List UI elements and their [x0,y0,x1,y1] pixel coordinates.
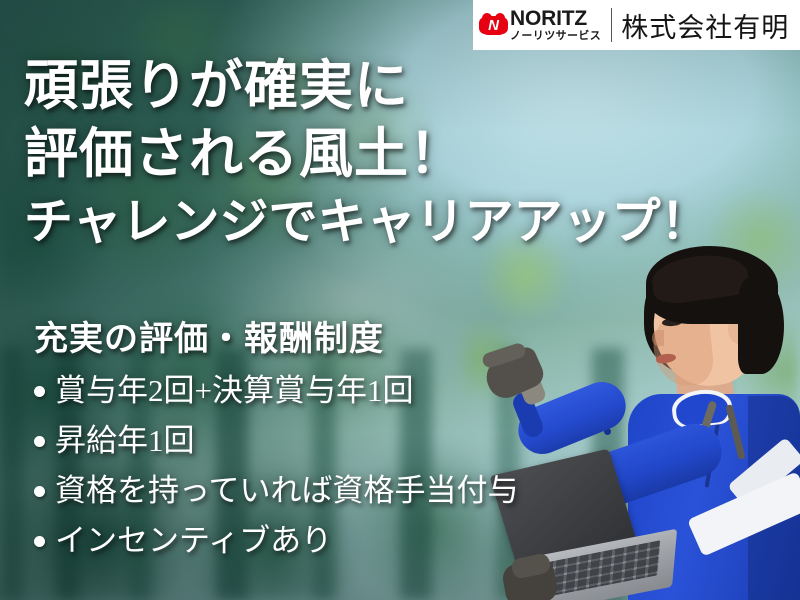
bullet-dot-icon [34,536,45,547]
noritz-mark-icon: N [481,16,506,35]
noritz-logo: N NORITZ ノーリツサービス [481,8,601,42]
benefit-text: 資格を持っていれば資格手当付与 [55,466,518,516]
headline-line-1: 頑張りが確実に [24,52,710,120]
noritz-wordmark: NORITZ [510,8,601,29]
benefit-text: 昇給年1回 [55,416,195,466]
benefits-block: 充実の評価・報酬制度 賞与年2回+決算賞与年1回 昇給年1回 資格を持っていれば… [34,318,518,566]
company-name: 株式会社有明 [621,6,789,45]
benefit-text: インセンティブあり [55,516,332,566]
recruitment-banner: N NORITZ ノーリツサービス 株式会社有明 頑張りが確実に 評価される風土… [0,0,800,600]
bullet-dot-icon [34,436,45,447]
nose [652,330,664,346]
hair-side [738,278,784,374]
bullet-dot-icon [34,386,45,397]
list-item: 賞与年2回+決算賞与年1回 [34,366,518,416]
headline: 頑張りが確実に 評価される風土！ チャレンジでキャリアアップ！ [24,52,710,256]
list-item: 資格を持っていれば資格手当付与 [34,466,518,516]
noritz-logo-text: NORITZ ノーリツサービス [510,8,601,42]
list-item: インセンティブあり [34,516,518,566]
noritz-subtext: ノーリツサービス [510,31,601,42]
list-item: 昇給年1回 [34,416,518,466]
headline-line-2: 評価される風土！ [24,120,710,188]
benefits-list: 賞与年2回+決算賞与年1回 昇給年1回 資格を持っていれば資格手当付与 インセン… [34,366,518,566]
bullet-dot-icon [34,486,45,497]
benefit-text: 賞与年2回+決算賞与年1回 [55,366,413,416]
noritz-mark-letter: N [488,18,499,33]
logo-divider [611,8,612,42]
staff-photo [476,244,800,600]
benefits-title: 充実の評価・報酬制度 [34,318,518,362]
logo-panel: N NORITZ ノーリツサービス 株式会社有明 [473,0,800,50]
headline-line-3: チャレンジでキャリアアップ！ [24,188,710,256]
